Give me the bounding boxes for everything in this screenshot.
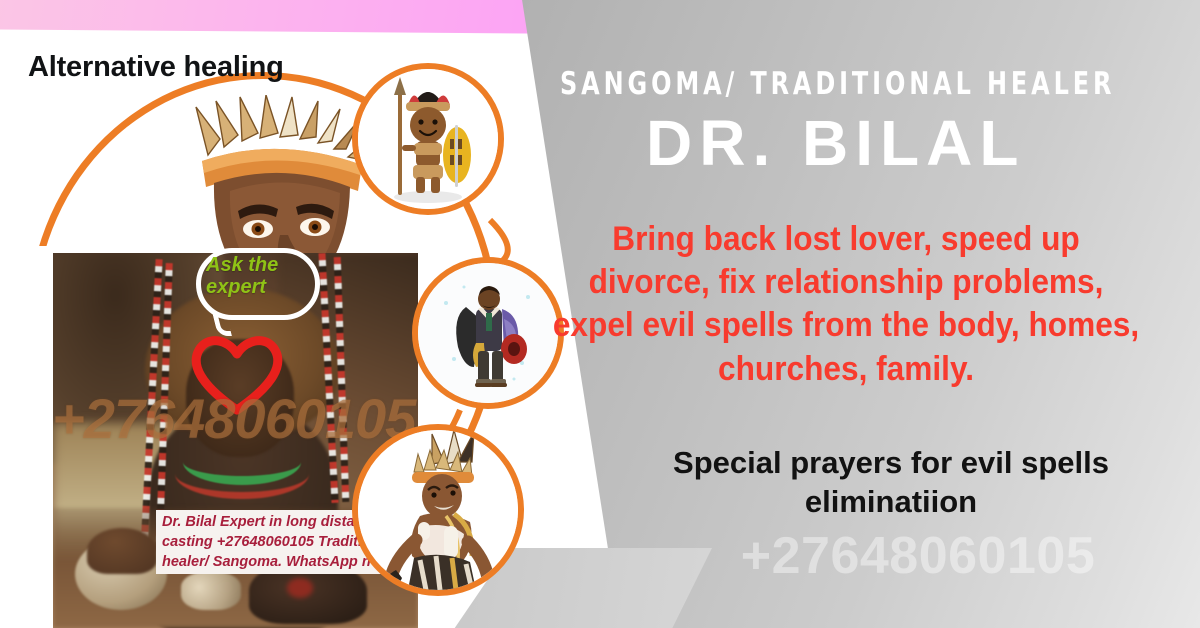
circle-image-crouching-sangoma	[352, 424, 524, 596]
photo-shell-cluster	[181, 572, 241, 610]
speech-bubble-label: Ask the expert	[206, 255, 314, 298]
special-prayers-text: Special prayers for evil spells eliminat…	[600, 443, 1182, 522]
panel-phone-watermark: +27648060105	[640, 526, 1196, 586]
brand-name-dr-bilal: DR. BILAL	[646, 106, 1200, 180]
page-title-alternative-healing: Alternative healing	[28, 51, 284, 84]
circle-image-zulu-warrior	[352, 63, 504, 215]
poster-canvas: Alternative healing	[0, 0, 1200, 628]
decorative-strip-pink	[0, 0, 600, 34]
photo-phone-watermark: +27648060105	[52, 386, 415, 451]
photo-gourd-dark	[87, 528, 157, 574]
photo-necklace-red	[175, 449, 309, 499]
kicker-sangoma-traditional-healer: SANGOMA/ TRADITIONAL HEALER	[560, 66, 1093, 102]
circle-image-robed-healer	[412, 257, 564, 409]
services-description: Bring back lost lover, speed up divorce,…	[552, 218, 1140, 391]
